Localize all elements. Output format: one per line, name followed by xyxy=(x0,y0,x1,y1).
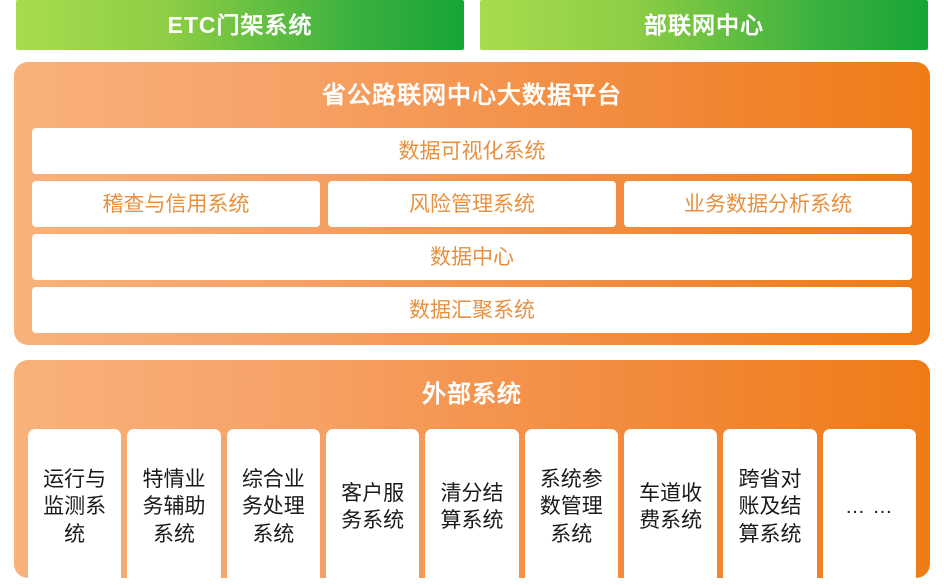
card-cross-province-reconciliation-settlement-system[interactable]: 跨省对账及结算系统 xyxy=(723,429,816,585)
card-more-ellipsis[interactable]: … … xyxy=(823,429,916,585)
row-label: 风险管理系统 xyxy=(409,194,535,215)
top-banner-row: ETC门架系统 部联网中心 xyxy=(16,0,928,50)
row-label: 数据汇聚系统 xyxy=(409,300,535,321)
banner-etc-gantry-system[interactable]: ETC门架系统 xyxy=(16,0,464,50)
card-customer-service-system[interactable]: 客户服务系统 xyxy=(326,429,419,585)
card-label: 运行与监测系统 xyxy=(34,466,115,548)
row-label: 稽查与信用系统 xyxy=(103,194,250,215)
external-system-card-list: 运行与监测系统 特情业务辅助系统 综合业务处理系统 客户服务系统 清分结算系统 … xyxy=(28,429,916,585)
row-audit-credit-system[interactable]: 稽查与信用系统 xyxy=(32,181,320,227)
card-lane-toll-system[interactable]: 车道收费系统 xyxy=(624,429,717,585)
row-data-visualization-system[interactable]: 数据可视化系统 xyxy=(32,128,912,174)
card-label: 清分结算系统 xyxy=(431,480,512,535)
row-risk-management-system[interactable]: 风险管理系统 xyxy=(328,181,616,227)
card-label: 车道收费系统 xyxy=(630,480,711,535)
panel-external-systems: 外部系统 运行与监测系统 特情业务辅助系统 综合业务处理系统 客户服务系统 清分… xyxy=(14,360,930,578)
card-label: 特情业务辅助系统 xyxy=(133,466,214,548)
banner-ministry-network-center[interactable]: 部联网中心 xyxy=(480,0,928,50)
card-system-parameter-management-system[interactable]: 系统参数管理系统 xyxy=(525,429,618,585)
card-operation-monitoring-system[interactable]: 运行与监测系统 xyxy=(28,429,121,585)
panel-title: 外部系统 xyxy=(28,360,916,429)
card-label: … … xyxy=(845,494,894,520)
card-integrated-business-processing-system[interactable]: 综合业务处理系统 xyxy=(227,429,320,585)
panel-title: 省公路联网中心大数据平台 xyxy=(32,62,912,128)
card-label: 系统参数管理系统 xyxy=(531,466,612,548)
row-label: 数据中心 xyxy=(430,247,514,268)
row-data-center[interactable]: 数据中心 xyxy=(32,234,912,280)
banner-label: 部联网中心 xyxy=(644,14,764,37)
banner-label: ETC门架系统 xyxy=(168,14,313,37)
row-business-data-analysis-system[interactable]: 业务数据分析系统 xyxy=(624,181,912,227)
card-clearing-settlement-system[interactable]: 清分结算系统 xyxy=(425,429,518,585)
card-label: 综合业务处理系统 xyxy=(233,466,314,548)
card-label: 客户服务系统 xyxy=(332,480,413,535)
row-label: 业务数据分析系统 xyxy=(684,194,852,215)
panel-provincial-bigdata-platform: 省公路联网中心大数据平台 数据可视化系统 稽查与信用系统 风险管理系统 业务数据… xyxy=(14,62,930,345)
card-label: 跨省对账及结算系统 xyxy=(729,466,810,548)
row-label: 数据可视化系统 xyxy=(399,141,546,162)
card-special-situation-business-support-system[interactable]: 特情业务辅助系统 xyxy=(127,429,220,585)
row-subsystem-group: 稽查与信用系统 风险管理系统 业务数据分析系统 xyxy=(32,181,912,227)
row-data-aggregation-system[interactable]: 数据汇聚系统 xyxy=(32,287,912,333)
